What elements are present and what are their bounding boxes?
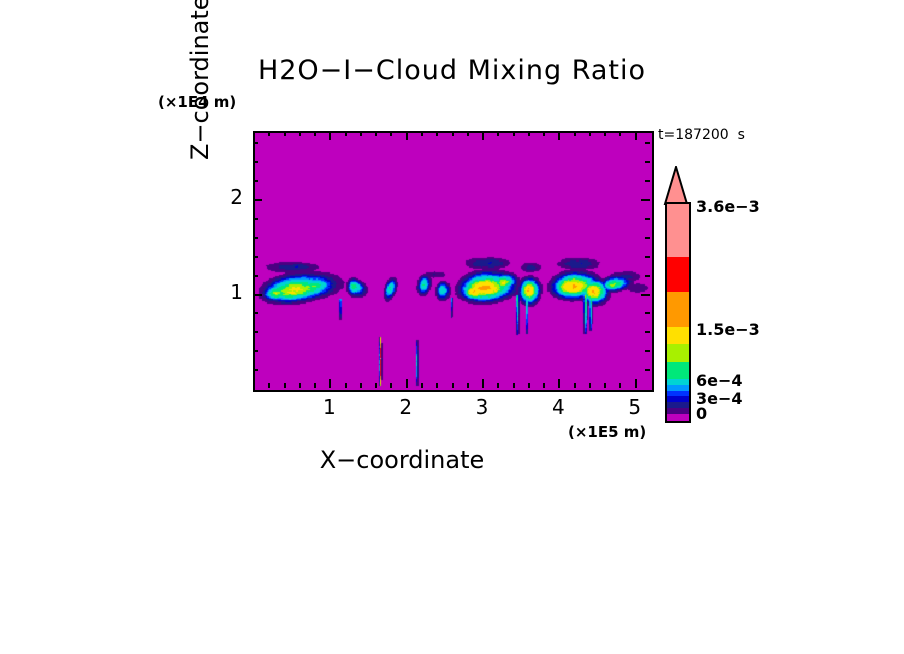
x-minor-tick	[528, 383, 530, 388]
x-major-tick	[406, 379, 408, 388]
x-major-tick-top	[406, 131, 408, 140]
y-major-tick-right	[641, 199, 650, 201]
x-minor-tick-top	[314, 131, 316, 136]
y-minor-tick-right	[645, 369, 650, 371]
figure-root: H2O−I−Cloud Mixing Ratio (×1E4 m) t=1872…	[0, 0, 904, 654]
x-minor-tick-top	[268, 131, 270, 136]
y-major-tick-right	[641, 294, 650, 296]
colorbar-segments	[665, 202, 691, 423]
x-minor-tick	[314, 383, 316, 388]
x-minor-tick	[268, 383, 270, 388]
x-major-tick-top	[482, 131, 484, 140]
colorbar-label-6e-4: 6e−4	[696, 371, 743, 390]
y-tick-label: 2	[205, 185, 243, 209]
x-minor-tick	[360, 383, 362, 388]
x-minor-tick-top	[528, 131, 530, 136]
y-minor-tick	[253, 142, 258, 144]
y-minor-tick-right	[645, 161, 650, 163]
x-minor-tick	[467, 383, 469, 388]
colorbar-band	[667, 257, 689, 292]
colorbar-label-mid: 1.5e−3	[696, 320, 760, 339]
x-minor-tick	[604, 383, 606, 388]
x-minor-tick-top	[375, 131, 377, 136]
x-minor-tick-top	[543, 131, 545, 136]
heatmap-canvas	[255, 133, 652, 390]
x-minor-tick-top	[467, 131, 469, 136]
x-minor-tick-top	[635, 131, 637, 136]
colorbar-band	[667, 204, 689, 257]
x-minor-tick-top	[604, 131, 606, 136]
x-tick-label: 1	[309, 395, 349, 419]
x-minor-tick	[421, 383, 423, 388]
x-minor-tick-top	[574, 131, 576, 136]
y-minor-tick	[253, 275, 258, 277]
x-major-tick	[329, 379, 331, 388]
y-minor-tick-right	[645, 331, 650, 333]
x-tick-label: 5	[615, 395, 655, 419]
y-minor-tick	[253, 180, 258, 182]
y-minor-tick-right	[645, 256, 650, 258]
x-major-tick-top	[329, 131, 331, 140]
plot-area	[253, 131, 654, 392]
y-major-tick	[253, 294, 262, 296]
x-minor-tick	[497, 383, 499, 388]
x-minor-tick	[543, 383, 545, 388]
x-minor-tick	[635, 383, 637, 388]
x-minor-tick	[619, 383, 621, 388]
x-minor-tick-top	[390, 131, 392, 136]
colorbar-band	[667, 344, 689, 362]
y-minor-tick-right	[645, 312, 650, 314]
colorbar-band	[667, 414, 689, 421]
colorbar-label-zero: 0	[696, 404, 707, 423]
x-minor-tick	[390, 383, 392, 388]
x-tick-label: 3	[462, 395, 502, 419]
page-title: H2O−I−Cloud Mixing Ratio	[0, 55, 904, 86]
colorbar-label-top: 3.6e−3	[696, 197, 760, 216]
y-minor-tick-right	[645, 180, 650, 182]
x-major-tick-top	[558, 131, 560, 140]
x-minor-tick	[375, 383, 377, 388]
y-minor-tick-right	[645, 237, 650, 239]
x-minor-tick	[589, 383, 591, 388]
colorbar-extend-arrow	[663, 166, 689, 206]
x-minor-tick	[299, 383, 301, 388]
y-minor-tick	[253, 256, 258, 258]
x-minor-tick-top	[619, 131, 621, 136]
x-minor-tick-top	[436, 131, 438, 136]
y-minor-tick-right	[645, 275, 650, 277]
x-minor-tick-top	[299, 131, 301, 136]
y-minor-tick-right	[645, 350, 650, 352]
x-major-tick	[482, 379, 484, 388]
x-axis-title: X−coordinate	[0, 446, 854, 474]
y-minor-tick-right	[645, 142, 650, 144]
x-minor-tick-top	[360, 131, 362, 136]
colorbar-band	[667, 327, 689, 345]
x-minor-tick	[574, 383, 576, 388]
x-minor-tick	[436, 383, 438, 388]
y-minor-tick	[253, 331, 258, 333]
x-minor-tick-top	[284, 131, 286, 136]
y-minor-tick-right	[645, 218, 650, 220]
colorbar-band	[667, 362, 689, 380]
x-tick-label: 2	[386, 395, 426, 419]
x-minor-tick	[345, 383, 347, 388]
y-minor-tick	[253, 237, 258, 239]
colorbar-band	[667, 292, 689, 327]
x-axis-unit-label: (×1E5 m)	[568, 423, 646, 441]
x-minor-tick	[513, 383, 515, 388]
timestamp-label: t=187200 s	[658, 127, 745, 143]
x-minor-tick-top	[497, 131, 499, 136]
x-minor-tick-top	[513, 131, 515, 136]
y-minor-tick	[253, 312, 258, 314]
y-major-tick	[253, 199, 262, 201]
y-minor-tick	[253, 161, 258, 163]
y-axis-title: Z−coordinate	[186, 0, 214, 160]
x-major-tick	[558, 379, 560, 388]
x-minor-tick-top	[589, 131, 591, 136]
x-minor-tick	[452, 383, 454, 388]
y-minor-tick	[253, 350, 258, 352]
y-tick-label: 1	[205, 280, 243, 304]
y-minor-tick	[253, 218, 258, 220]
x-minor-tick-top	[452, 131, 454, 136]
x-minor-tick-top	[421, 131, 423, 136]
x-tick-label: 4	[538, 395, 578, 419]
x-minor-tick	[284, 383, 286, 388]
x-minor-tick-top	[345, 131, 347, 136]
y-minor-tick	[253, 369, 258, 371]
